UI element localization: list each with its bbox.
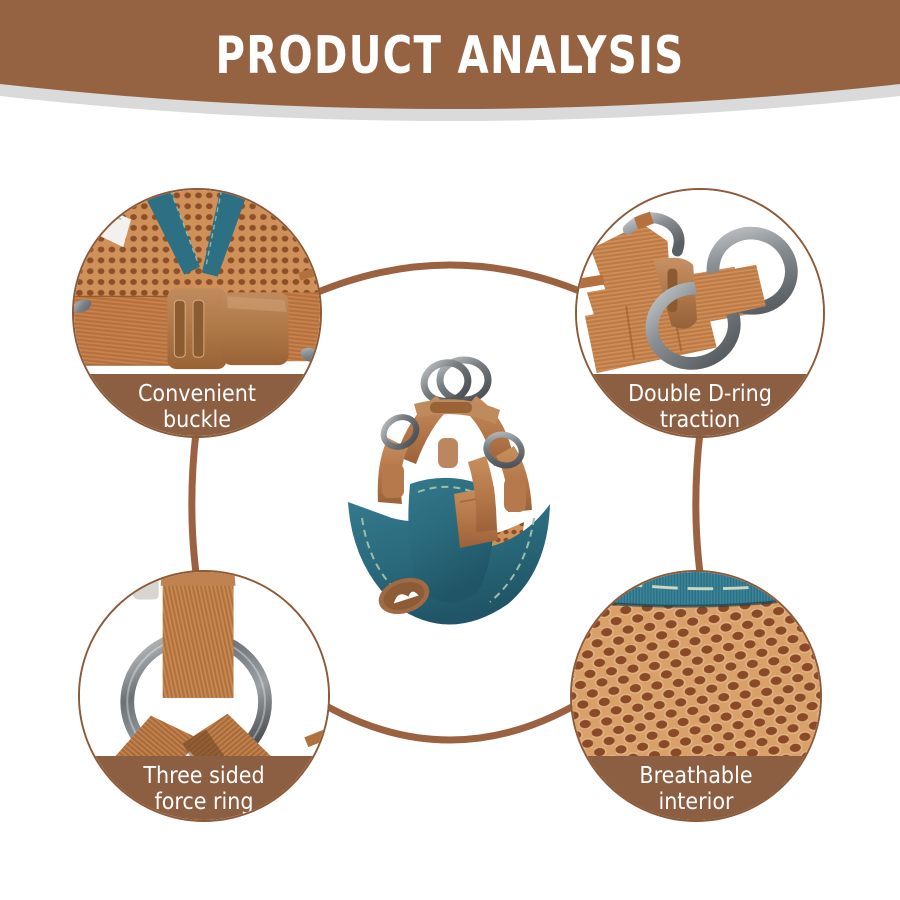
connector-top-arc [300, 265, 600, 300]
connector-bottom-arc [300, 690, 600, 740]
dog-harness-illustration [318, 352, 583, 662]
callout-label-three-sided-force-ring: Three sided force ring [80, 756, 328, 820]
callout-breathable-interior[interactable]: Breathable interior [570, 570, 822, 822]
callout-convenient-buckle[interactable]: Convenient buckle [72, 188, 322, 438]
callout-three-sided-force-ring[interactable]: Three sided force ring [78, 570, 330, 822]
callout-label-breathable-interior: Breathable interior [572, 756, 820, 820]
callout-double-d-ring-traction[interactable]: Double D-ring traction [575, 188, 825, 438]
infographic-page: PRODUCT ANALYSIS [0, 0, 900, 900]
callout-label-double-d-ring-traction: Double D-ring traction [577, 374, 823, 436]
center-product-image[interactable] [318, 352, 583, 662]
callout-label-convenient-buckle: Convenient buckle [74, 374, 320, 436]
